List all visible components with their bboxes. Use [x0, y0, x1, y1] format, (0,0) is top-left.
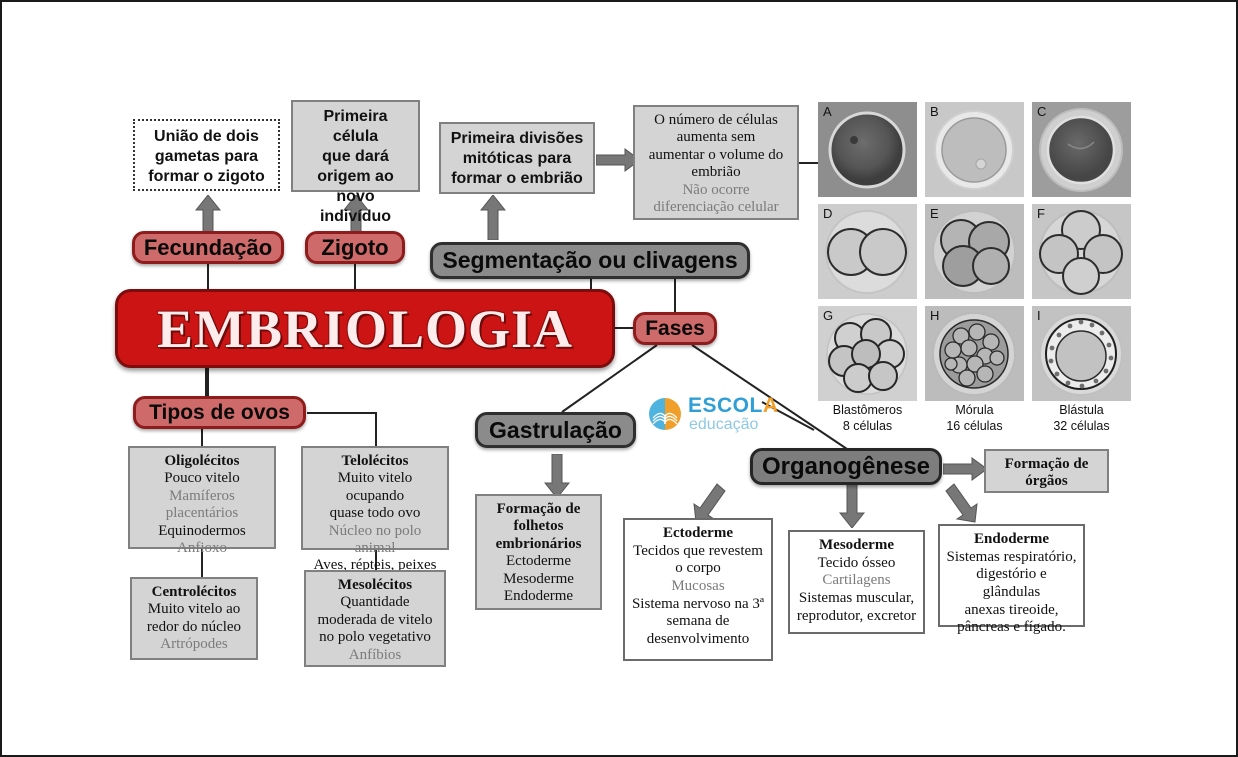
- caption-blastomeros-name: Blastômeros: [818, 402, 917, 418]
- numero-celulas-line-3: aumentar o volume do: [641, 147, 791, 164]
- micrograph-e: E: [925, 204, 1024, 299]
- endoderme-line-1: Sistemas respiratório,: [946, 549, 1077, 567]
- pill-fases[interactable]: Fases: [633, 312, 717, 345]
- escola-educacao-logo[interactable]: ESCOLA educação: [647, 394, 779, 438]
- caption-blastula-name: Blástula: [1032, 402, 1131, 418]
- embryo-captions: Blastômeros 8 células Mórula 16 células …: [818, 402, 1134, 435]
- pill-fecundacao[interactable]: Fecundação: [132, 231, 284, 264]
- micrograph-d: D: [818, 204, 917, 299]
- mesolecitos-line-2: moderada de vitelo: [312, 612, 438, 629]
- uniao-line-2: gametas para: [141, 147, 272, 167]
- folhetos-head-3: embrionários: [483, 536, 594, 553]
- arrow-organogenese-mesoderme: [839, 484, 865, 528]
- telolecitos-line-2: quase todo ovo: [309, 505, 441, 522]
- ectoderme-line-5: semana de: [631, 613, 765, 631]
- caption-blastomeros-count: 8 células: [818, 418, 917, 434]
- arrow-organogenese-orgaos: [943, 457, 987, 481]
- oligolecitos-line-1: Pouco vitelo: [136, 470, 268, 487]
- micrograph-g: G: [818, 306, 917, 401]
- folhetos-line-1: Ectoderme: [483, 553, 594, 570]
- box-mesoderme: Mesoderme Tecido ósseo Cartilagens Siste…: [788, 530, 925, 634]
- uniao-line-3: formar o zigoto: [141, 167, 272, 187]
- caption-morula: Mórula 16 células: [925, 402, 1024, 435]
- micrograph-label-i: I: [1037, 308, 1041, 323]
- box-uniao-gametas: União de dois gametas para formar o zigo…: [133, 119, 280, 191]
- primeira-celula-line-3: origem ao novo: [299, 167, 412, 207]
- folhetos-head-1: Formação de: [483, 501, 594, 518]
- mindmap-canvas: União de dois gametas para formar o zigo…: [0, 0, 1238, 757]
- ectoderme-line-6: desenvolvimento: [631, 631, 765, 649]
- numero-celulas-line-2: aumenta sem: [641, 129, 791, 146]
- box-primeiras-divisoes: Primeira divisões mitóticas para formar …: [439, 122, 595, 194]
- ectoderme-line-4: Sistema nervoso na 3ª: [631, 596, 765, 614]
- divisoes-line-1: Primeira divisões: [447, 129, 587, 149]
- pill-organogenese-label: Organogênese: [762, 453, 930, 481]
- connector-tipos-telolecitos-v: [375, 412, 377, 446]
- ectoderme-line-2: o corpo: [631, 560, 765, 578]
- arrow-gastrulacao-down: [544, 454, 570, 498]
- caption-morula-name: Mórula: [925, 402, 1024, 418]
- mesoderme-line-4: reprodutor, excretor: [796, 608, 917, 626]
- primeira-celula-line-4: indivíduo: [299, 207, 412, 227]
- pill-segmentacao-label: Segmentação ou clivagens: [442, 247, 737, 274]
- divisoes-line-2: mitóticas para: [447, 149, 587, 169]
- micrograph-h: H: [925, 306, 1024, 401]
- micrograph-label-d: D: [823, 206, 832, 221]
- micrograph-c: C: [1032, 102, 1131, 197]
- mesoderme-line-3: Sistemas muscular,: [796, 590, 917, 608]
- formacao-orgaos-line-2: órgãos: [992, 473, 1101, 490]
- pill-gastrulacao-label: Gastrulação: [489, 417, 622, 444]
- pill-fases-label: Fases: [645, 317, 705, 341]
- oligolecitos-line-3: Equinodermos: [136, 523, 268, 540]
- mesoderme-line-2: Cartilagens: [796, 572, 917, 590]
- numero-celulas-line-1: O número de células: [641, 112, 791, 129]
- pill-tipos-de-ovos[interactable]: Tipos de ovos: [133, 396, 306, 429]
- ectoderme-line-1: Tecidos que revestem: [631, 543, 765, 561]
- connector-fases-segmentacao: [674, 279, 676, 312]
- box-folhetos-embrionarios: Formação de folhetos embrionários Ectode…: [475, 494, 602, 610]
- micrograph-b: B: [925, 102, 1024, 197]
- uniao-line-1: União de dois: [141, 127, 272, 147]
- box-oligolecitos: Oligolécitos Pouco vitelo Mamíferos plac…: [128, 446, 276, 549]
- pill-zigoto-label: Zigoto: [321, 235, 388, 261]
- primeira-celula-line-1: Primeira célula: [299, 107, 412, 147]
- arrow-fecundacao-up: [195, 195, 221, 235]
- arrow-segmentacao-up: [480, 195, 506, 240]
- micrograph-label-f: F: [1037, 206, 1045, 221]
- box-primeira-celula: Primeira célula que dará origem ao novo …: [291, 100, 420, 192]
- connector-tipos-telolecitos-h: [307, 412, 375, 414]
- logo-subtitle: educação: [689, 416, 758, 434]
- endoderme-line-2: digestório e glândulas: [946, 566, 1077, 601]
- numero-celulas-line-6: diferenciação celular: [641, 199, 791, 216]
- mesoderme-line-1: Tecido ósseo: [796, 555, 917, 573]
- oligolecitos-line-4: Anfioxo: [136, 540, 268, 557]
- book-icon: [647, 396, 683, 432]
- mesolecitos-head: Mesolécitos: [312, 577, 438, 594]
- micrograph-a: A: [818, 102, 917, 197]
- micrograph-label-b: B: [930, 104, 939, 119]
- logo-word-main: ESCOL: [688, 394, 763, 417]
- micrograph-label-g: G: [823, 308, 833, 323]
- telolecitos-line-1: Muito vitelo ocupando: [309, 470, 441, 505]
- telolecitos-line-3: Núcleo no polo animal: [309, 523, 441, 558]
- box-ectoderme: Ectoderme Tecidos que revestem o corpo M…: [623, 518, 773, 661]
- mesoderme-head: Mesoderme: [796, 537, 917, 555]
- pill-gastrulacao[interactable]: Gastrulação: [475, 412, 636, 448]
- box-formacao-orgaos: Formação de órgãos: [984, 449, 1109, 493]
- folhetos-line-3: Endoderme: [483, 588, 594, 605]
- caption-blastula-count: 32 células: [1032, 418, 1131, 434]
- mesolecitos-line-3: no polo vegetativo: [312, 629, 438, 646]
- centrolecitos-head: Centrolécitos: [138, 584, 250, 601]
- connector-zigoto-stem: [354, 260, 356, 290]
- box-centrolecitos: Centrolécitos Muito vitelo ao redor do n…: [130, 577, 258, 660]
- telolecitos-head: Telolécitos: [309, 453, 441, 470]
- oligolecitos-head: Oligolécitos: [136, 453, 268, 470]
- micrograph-label-c: C: [1037, 104, 1046, 119]
- embryo-stages-grid: A B C D: [818, 102, 1134, 398]
- micrograph-label-h: H: [930, 308, 939, 323]
- box-numero-celulas: O número de células aumenta sem aumentar…: [633, 105, 799, 220]
- ectoderme-line-3: Mucosas: [631, 578, 765, 596]
- box-telolecitos: Telolécitos Muito vitelo ocupando quase …: [301, 446, 449, 550]
- pill-organogenese[interactable]: Organogênese: [750, 448, 942, 485]
- folhetos-line-2: Mesoderme: [483, 571, 594, 588]
- mesolecitos-line-4: Anfíbios: [312, 647, 438, 664]
- endoderme-line-3: anexas tireoide,: [946, 602, 1077, 620]
- folhetos-head-2: folhetos: [483, 518, 594, 535]
- page-title-label: EMBRIOLOGIA: [157, 298, 573, 360]
- numero-celulas-line-5: Não ocorre: [641, 182, 791, 199]
- mesolecitos-line-1: Quantidade: [312, 594, 438, 611]
- centrolecitos-line-1: Muito vitelo ao: [138, 601, 250, 618]
- numero-celulas-line-4: embrião: [641, 164, 791, 181]
- box-endoderme: Endoderme Sistemas respiratório, digestó…: [938, 524, 1085, 627]
- caption-morula-count: 16 células: [925, 418, 1024, 434]
- micrograph-label-e: E: [930, 206, 939, 221]
- box-mesolecitos: Mesolécitos Quantidade moderada de vitel…: [304, 570, 446, 667]
- centrolecitos-line-3: Artrópodes: [138, 636, 250, 653]
- micrograph-f: F: [1032, 204, 1131, 299]
- primeira-celula-line-2: que dará: [299, 147, 412, 167]
- micrograph-i: I: [1032, 306, 1131, 401]
- formacao-orgaos-line-1: Formação de: [992, 456, 1101, 473]
- pill-tipos-de-ovos-label: Tipos de ovos: [149, 401, 290, 425]
- pill-segmentacao[interactable]: Segmentação ou clivagens: [430, 242, 750, 279]
- centrolecitos-line-2: redor do núcleo: [138, 619, 250, 636]
- page-title: EMBRIOLOGIA: [115, 289, 615, 368]
- logo-word-accent: A: [763, 394, 779, 417]
- endoderme-line-4: pâncreas e fígado.: [946, 619, 1077, 637]
- divisoes-line-3: formar o embrião: [447, 169, 587, 189]
- pill-fecundacao-label: Fecundação: [144, 235, 272, 261]
- connector-fecundacao-stem: [207, 260, 209, 290]
- endoderme-head: Endoderme: [946, 531, 1077, 549]
- arrow-organogenese-endoderme: [943, 482, 979, 524]
- pill-zigoto[interactable]: Zigoto: [305, 231, 405, 264]
- micrograph-label-a: A: [823, 104, 832, 119]
- connector-tipos-oligolecitos: [201, 429, 203, 446]
- ectoderme-head: Ectoderme: [631, 525, 765, 543]
- caption-blastula: Blástula 32 células: [1032, 402, 1131, 435]
- logo-wordmark: ESCOLA: [688, 394, 779, 418]
- caption-blastomeros: Blastômeros 8 células: [818, 402, 917, 435]
- oligolecitos-line-2: Mamíferos placentários: [136, 488, 268, 523]
